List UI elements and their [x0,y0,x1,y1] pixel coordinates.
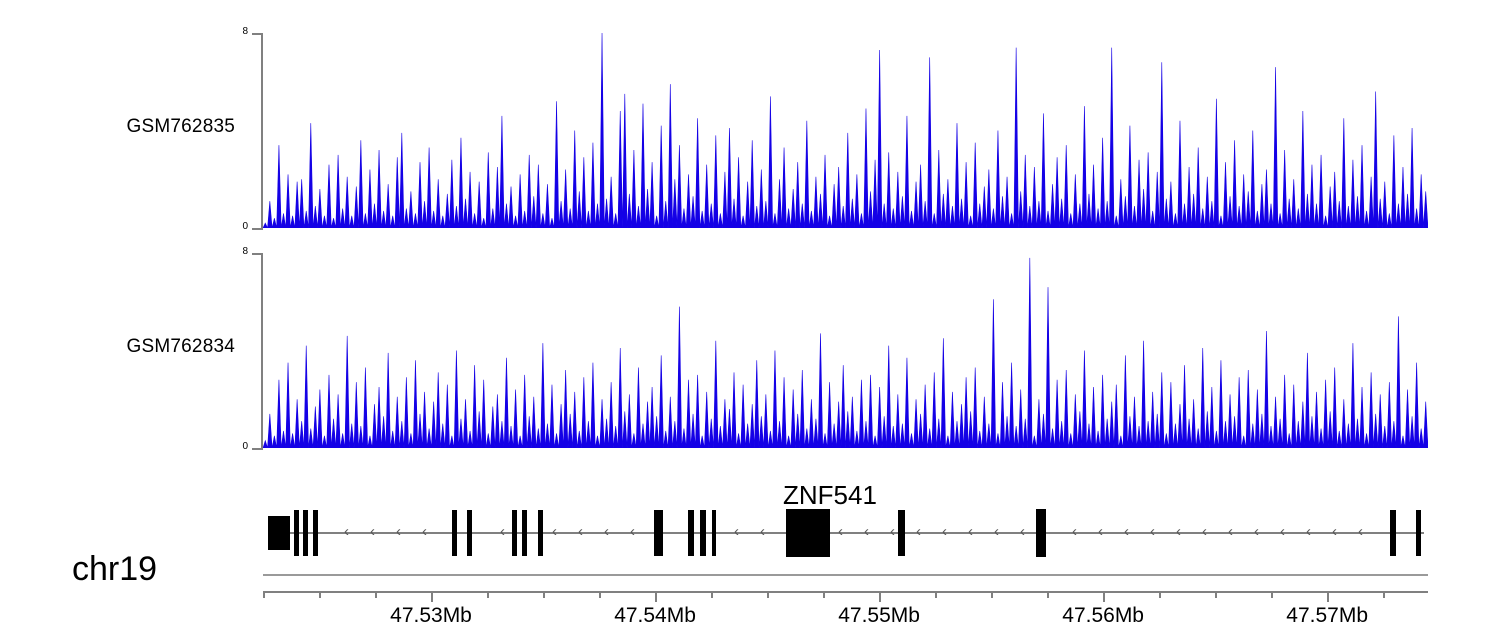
strand-arrow-icon: ‹ [942,524,947,539]
x-axis-tick-minor [1047,591,1049,598]
y-axis-label-min-track1: 0 [228,221,248,232]
exon-block[interactable] [688,510,694,556]
x-axis-tick-label: 47.55Mb [799,604,959,628]
strand-arrow-icon: ‹ [630,524,635,539]
strand-arrow-icon: ‹ [1176,524,1181,539]
exon-block[interactable] [294,510,299,556]
y-axis-label-max-track2: 8 [228,246,248,257]
exon-block[interactable] [1416,510,1421,556]
y-axis-tick-min-track2 [252,448,261,450]
y-axis-tick-max-track2 [252,253,261,255]
exon-block[interactable] [1390,510,1396,556]
x-axis-tick-minor [599,591,601,598]
strand-arrow-icon: ‹ [1124,524,1129,539]
track-label-gsm762835: GSM762835 [85,116,235,138]
strand-arrow-icon: ‹ [1254,524,1259,539]
x-axis-tick-minor [319,591,321,598]
x-axis-tick-minor [1383,591,1385,598]
strand-arrow-icon: ‹ [370,524,375,539]
x-axis-tick-major [879,591,881,602]
strand-arrow-icon: ‹ [1358,524,1363,539]
x-axis-tick-label: 47.56Mb [1023,604,1183,628]
exon-block[interactable] [786,509,830,557]
x-axis-line [263,591,1428,593]
strand-arrow-icon: ‹ [968,524,973,539]
x-axis-tick-minor [487,591,489,598]
strand-arrow-icon: ‹ [1332,524,1337,539]
x-axis-tick-minor [1215,591,1217,598]
gene-name-label[interactable]: ZNF541 [783,480,877,511]
strand-arrow-icon: ‹ [578,524,583,539]
exon-block[interactable] [467,510,472,556]
x-axis-tick-major [655,591,657,602]
y-axis-tick-min-track1 [252,228,261,230]
exon-block[interactable] [1036,509,1046,557]
gene-track-baseline-rule [263,574,1428,576]
exon-block[interactable] [268,516,290,550]
x-axis-tick-label: 47.57Mb [1247,604,1407,628]
strand-arrow-icon: ‹ [344,524,349,539]
strand-arrow-icon: ‹ [760,524,765,539]
exon-block[interactable] [898,510,905,556]
strand-arrow-icon: ‹ [838,524,843,539]
x-axis-tick-minor [375,591,377,598]
strand-arrow-icon: ‹ [422,524,427,539]
x-axis-tick-minor [935,591,937,598]
strand-arrow-icon: ‹ [1020,524,1025,539]
strand-arrow-icon: ‹ [1306,524,1311,539]
strand-arrow-icon: ‹ [1098,524,1103,539]
x-axis-tick-minor [767,591,769,598]
exon-block[interactable] [303,510,308,556]
exon-block[interactable] [712,510,716,556]
strand-arrow-icon: ‹ [734,524,739,539]
exon-block[interactable] [512,510,517,556]
exon-block[interactable] [522,510,527,556]
strand-arrow-icon: ‹ [1150,524,1155,539]
strand-arrow-icon: ‹ [994,524,999,539]
strand-arrow-icon: ‹ [396,524,401,539]
x-axis-tick-minor [711,591,713,598]
exon-block[interactable] [538,510,543,556]
strand-arrow-icon: ‹ [916,524,921,539]
signal-plot-gsm762834 [263,253,1428,448]
strand-arrow-icon: ‹ [1202,524,1207,539]
x-axis-tick-label: 47.54Mb [575,604,735,628]
gene-intron-line [268,532,1424,534]
signal-plot-gsm762835 [263,33,1428,228]
y-axis-label-max-track1: 8 [228,26,248,37]
track-label-gsm762834: GSM762834 [85,336,235,358]
exon-block[interactable] [313,510,318,556]
y-axis-tick-max-track1 [252,33,261,35]
exon-block[interactable] [452,510,457,556]
x-axis-tick-minor [263,591,265,598]
strand-arrow-icon: ‹ [1228,524,1233,539]
x-axis-tick-minor [1159,591,1161,598]
y-axis-label-min-track2: 0 [228,441,248,452]
strand-arrow-icon: ‹ [890,524,895,539]
x-axis-tick-major [1103,591,1105,602]
strand-arrow-icon: ‹ [864,524,869,539]
x-axis-tick-minor [543,591,545,598]
x-axis-tick-major [431,591,433,602]
strand-arrow-icon: ‹ [604,524,609,539]
x-axis-tick-label: 47.53Mb [351,604,511,628]
exon-block[interactable] [654,510,663,556]
exon-block[interactable] [700,510,706,556]
gene-annotation-track: ZNF541 ‹‹‹‹‹‹‹‹‹‹‹‹‹‹‹‹‹‹‹‹‹‹‹‹‹‹‹‹‹‹‹ [0,470,1500,590]
strand-arrow-icon: ‹ [552,524,557,539]
x-axis-tick-minor [1271,591,1273,598]
strand-arrow-icon: ‹ [1280,524,1285,539]
x-axis-tick-minor [823,591,825,598]
strand-arrow-icon: ‹ [1072,524,1077,539]
strand-arrow-icon: ‹ [500,524,505,539]
x-axis-tick-major [1327,591,1329,602]
chromosome-label: chr19 [72,550,157,589]
x-axis-tick-minor [991,591,993,598]
